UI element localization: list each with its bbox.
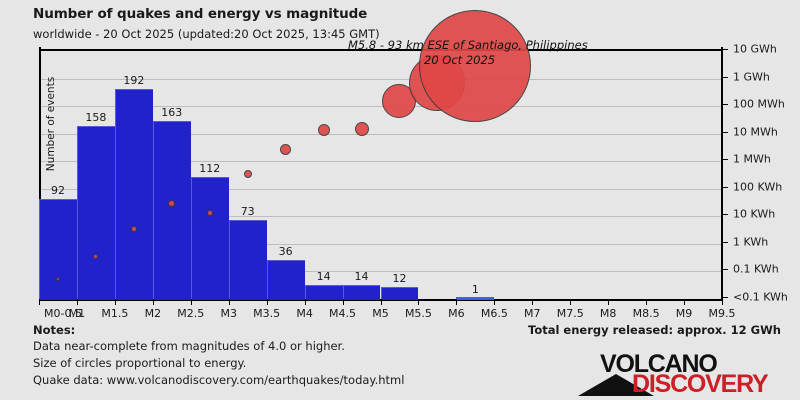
bar-value-label: 14	[305, 270, 343, 283]
y-axis-right-label: 1 KWh	[733, 235, 768, 248]
x-axis-tick	[267, 299, 268, 305]
y-axis-right-tick	[721, 49, 728, 50]
energy-circle	[56, 277, 60, 281]
bar	[381, 287, 419, 300]
x-axis-label: M4.5	[329, 307, 356, 320]
y-axis-right-label: 1 MWh	[733, 153, 771, 166]
bar	[305, 285, 343, 300]
y-axis-right-tick	[721, 104, 728, 105]
x-axis-tick	[343, 299, 344, 305]
bar	[39, 199, 77, 300]
x-axis-tick	[418, 299, 419, 305]
energy-circle	[207, 210, 213, 216]
x-axis-label: M4	[296, 307, 313, 320]
bar-value-label: 73	[229, 205, 267, 218]
bar-value-label: 158	[77, 111, 115, 124]
y-axis-right-label: 100 MWh	[733, 98, 785, 111]
bar	[267, 260, 305, 300]
x-axis-label: M1.5	[101, 307, 128, 320]
y-axis-right-tick	[721, 297, 728, 298]
logo-text-discovery: DISCOVERY	[632, 370, 768, 399]
y-axis-right-label: 100 KWh	[733, 180, 782, 193]
page-title: Number of quakes and energy vs magnitude	[33, 6, 367, 22]
x-axis-label: M2	[145, 307, 162, 320]
energy-circle	[355, 122, 369, 136]
y-axis-right-label: 10 MWh	[733, 125, 778, 138]
y-axis-right-tick	[721, 269, 728, 270]
x-axis-tick	[153, 299, 154, 305]
y-axis-title: Number of events	[45, 64, 57, 184]
x-axis-label: M6.5	[481, 307, 508, 320]
bar-value-label: 36	[267, 245, 305, 258]
notes-heading: Notes:	[33, 323, 75, 337]
x-axis-tick	[456, 299, 457, 305]
x-axis-tick	[608, 299, 609, 305]
annotation-line-2: 20 Oct 2025	[424, 53, 495, 67]
notes-line-3: Quake data: www.volcanodiscovery.com/ear…	[33, 373, 404, 387]
x-axis-label: M5	[372, 307, 389, 320]
y-axis-right-label: 1 GWh	[733, 70, 770, 83]
bar-value-label: 14	[343, 270, 381, 283]
notes-line-2: Size of circles proportional to energy.	[33, 356, 246, 370]
bar	[343, 285, 381, 300]
chart-subtitle: worldwide - 20 Oct 2025 (updated:20 Oct …	[33, 27, 380, 41]
bar-value-label: 163	[153, 106, 191, 119]
quake-energy-chart: Number of quakes and energy vs magnitude…	[0, 0, 800, 400]
total-energy-label: Total energy released: approx. 12 GWh	[528, 323, 781, 337]
y-axis-right-label: <0.1 KWh	[733, 290, 788, 303]
bar-value-label: 12	[381, 272, 419, 285]
x-axis-label: M9	[676, 307, 693, 320]
x-axis-tick	[191, 299, 192, 305]
y-axis-right-tick	[721, 187, 728, 188]
x-axis-label: M7	[524, 307, 541, 320]
y-axis-right-label: 10 GWh	[733, 43, 777, 56]
x-axis-tick	[494, 299, 495, 305]
bar	[115, 89, 153, 300]
x-axis-label: M8	[600, 307, 617, 320]
bar	[456, 297, 494, 300]
energy-circle	[318, 124, 330, 136]
x-axis-label: M3.5	[253, 307, 280, 320]
x-axis-label: M8.5	[633, 307, 660, 320]
x-axis-tick	[115, 299, 116, 305]
x-axis-label: M5.5	[405, 307, 432, 320]
energy-circle	[244, 170, 252, 178]
x-axis-tick	[39, 299, 40, 305]
volcanodiscovery-logo: VOLCANO DISCOVERY	[570, 350, 765, 396]
y-axis-right-tick	[721, 77, 728, 78]
notes-line-1: Data near-complete from magnitudes of 4.…	[33, 339, 345, 353]
axis-right	[721, 47, 723, 300]
y-axis-right-tick	[721, 242, 728, 243]
x-axis-label: M7.5	[557, 307, 584, 320]
x-axis-tick	[684, 299, 685, 305]
x-axis-tick	[722, 299, 723, 305]
x-axis-tick	[570, 299, 571, 305]
x-axis-label: M2.5	[177, 307, 204, 320]
y-axis-right-tick	[721, 159, 728, 160]
bar-value-label: 192	[115, 74, 153, 87]
x-axis-tick	[532, 299, 533, 305]
energy-circle	[280, 144, 291, 155]
x-axis-tick	[305, 299, 306, 305]
bar-value-label: 112	[191, 162, 229, 175]
y-axis-right-tick	[721, 132, 728, 133]
x-axis-label: M9.5	[709, 307, 736, 320]
bar-value-label: 92	[39, 184, 77, 197]
y-axis-right-tick	[721, 214, 728, 215]
x-axis-tick	[229, 299, 230, 305]
x-axis-tick	[77, 299, 78, 305]
bar	[153, 121, 191, 300]
energy-circle	[168, 200, 175, 207]
annotation-line-1: M5.8 - 93 km ESE of Santiago, Philippine…	[348, 38, 588, 52]
x-axis-tick	[381, 299, 382, 305]
y-axis-right-label: 10 KWh	[733, 208, 775, 221]
y-axis-right-label: 0.1 KWh	[733, 263, 779, 276]
x-axis-label: M3	[220, 307, 237, 320]
bar	[77, 126, 115, 300]
bar-value-label: 1	[456, 283, 494, 296]
x-axis-label: M6	[448, 307, 465, 320]
x-axis-tick	[646, 299, 647, 305]
bar	[191, 177, 229, 300]
x-axis-label: M1	[69, 307, 86, 320]
bar	[229, 220, 267, 300]
